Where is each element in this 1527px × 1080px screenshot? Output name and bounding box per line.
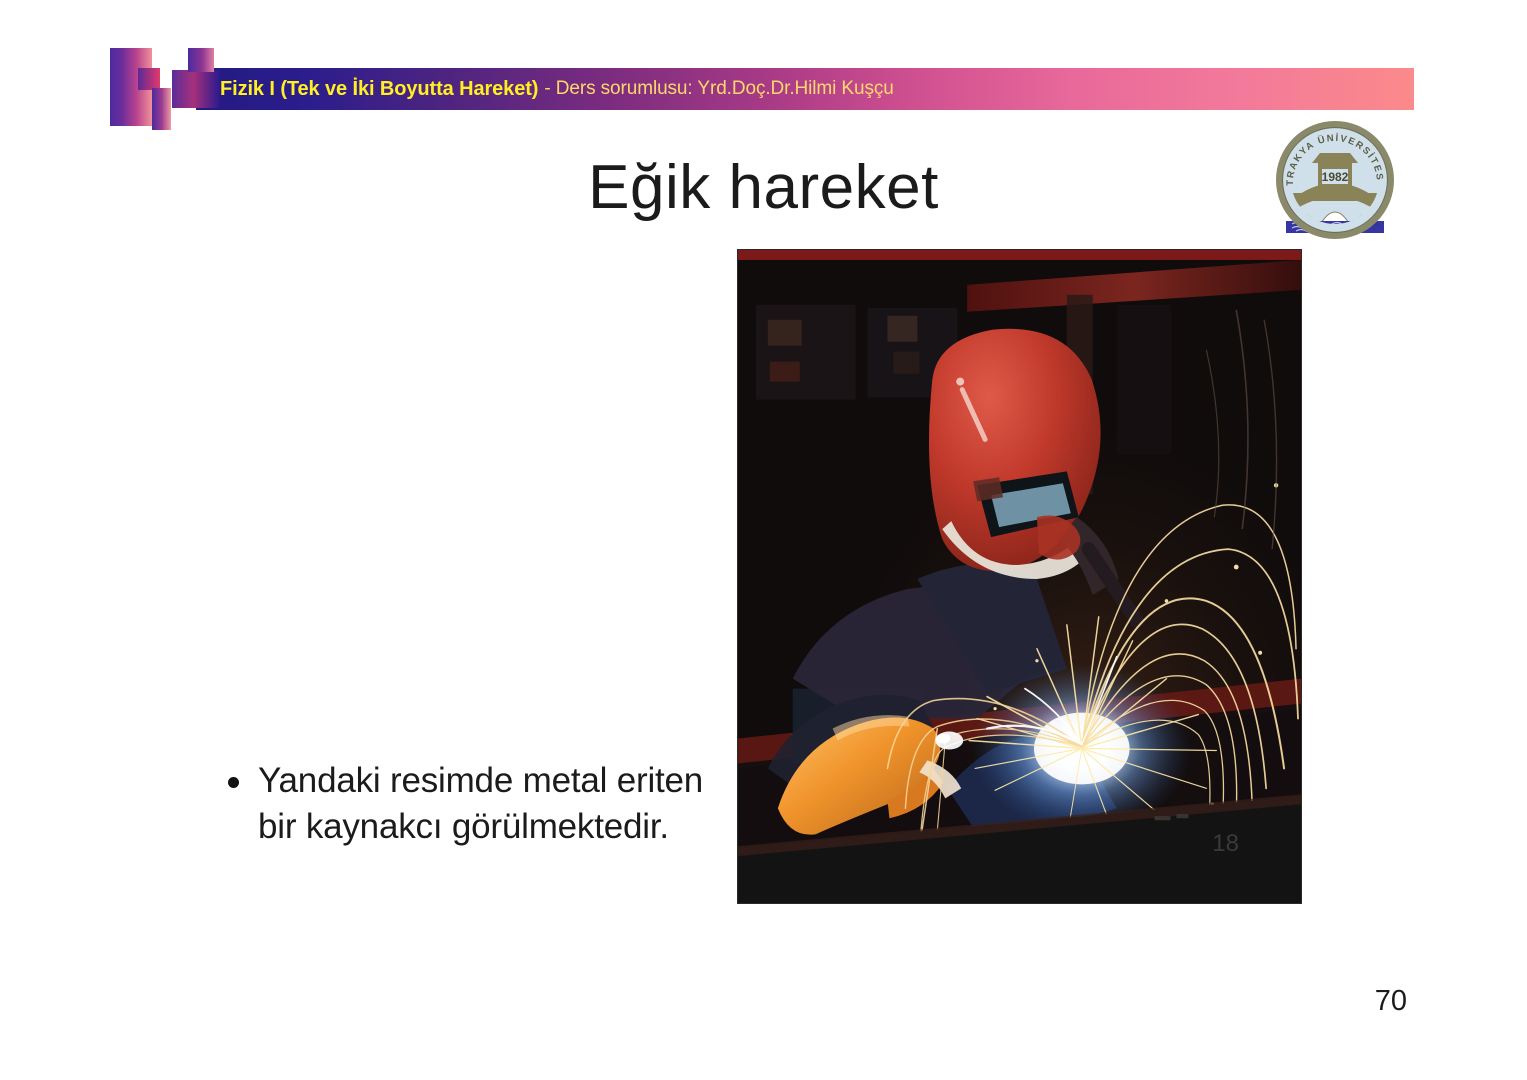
photo-caption: 18 bbox=[1212, 830, 1239, 858]
bullet-list: Yandaki resimde metal eriten bir kaynakc… bbox=[228, 758, 728, 849]
course-title: Fizik I (Tek ve İki Boyutta Hareket) bbox=[220, 78, 538, 101]
header-deco-block-narrow bbox=[152, 88, 171, 130]
header-title-bar: Fizik I (Tek ve İki Boyutta Hareket) - D… bbox=[196, 68, 1414, 110]
welder-photo: 18 bbox=[737, 249, 1302, 904]
list-item: Yandaki resimde metal eriten bir kaynakc… bbox=[258, 758, 728, 849]
trakya-universitesi-logo-icon: 1982 TRAKYA ÜNİVERSİTESİ bbox=[1276, 121, 1394, 239]
header-deco-block-square bbox=[138, 68, 160, 90]
slide-canvas: Fizik I (Tek ve İki Boyutta Hareket) - D… bbox=[0, 0, 1527, 1080]
bullet-marker-icon bbox=[228, 777, 239, 788]
course-instructor: - Ders sorumlusu: Yrd.Doç.Dr.Hilmi Kuşçu bbox=[544, 78, 893, 100]
page-number: 70 bbox=[1375, 985, 1407, 1018]
logo-year: 1982 bbox=[1322, 170, 1349, 184]
header-deco-block-mid bbox=[172, 70, 220, 108]
header-deco-block-tab bbox=[188, 48, 214, 72]
